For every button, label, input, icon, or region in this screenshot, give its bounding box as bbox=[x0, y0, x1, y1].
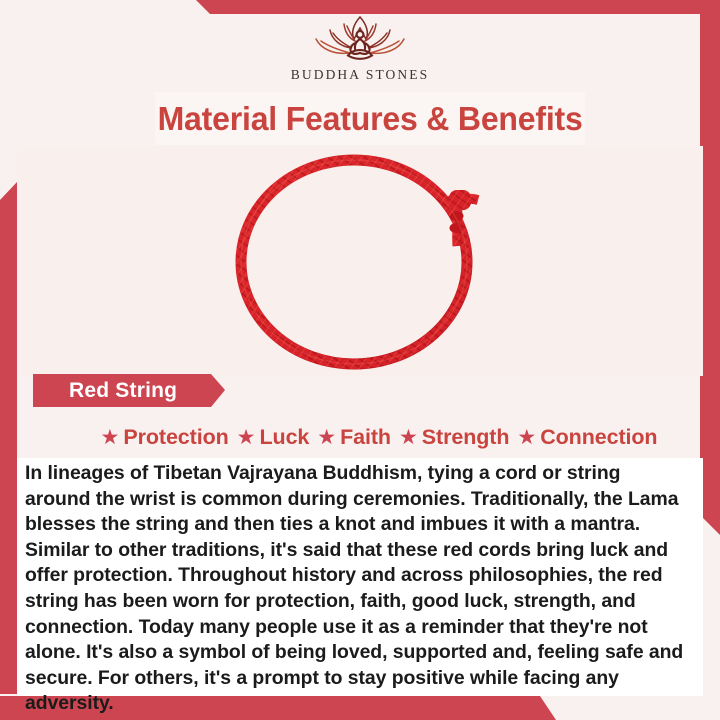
title-banner: Material Features & Benefits bbox=[155, 92, 585, 145]
benefits-list: ★ Protection ★ Luck ★ Faith ★ Strength ★… bbox=[17, 419, 703, 455]
brand-logo: BUDDHA STONES bbox=[0, 14, 720, 92]
benefit-item-strength: ★ Strength bbox=[399, 425, 509, 450]
page-title: Material Features & Benefits bbox=[157, 100, 582, 138]
decorative-top-bar bbox=[0, 0, 720, 14]
star-icon: ★ bbox=[317, 427, 336, 448]
star-icon: ★ bbox=[101, 427, 120, 448]
star-icon: ★ bbox=[517, 427, 536, 448]
star-icon: ★ bbox=[237, 427, 256, 448]
product-image-area bbox=[17, 146, 703, 376]
red-braided-string-bracelet-image bbox=[226, 150, 494, 372]
decorative-left-bar bbox=[0, 182, 17, 694]
lotus-meditation-icon bbox=[304, 14, 416, 66]
benefit-item-protection: ★ Protection bbox=[101, 425, 229, 450]
benefit-item-luck: ★ Luck bbox=[237, 425, 310, 450]
description-text: In lineages of Tibetan Vajrayana Buddhis… bbox=[25, 461, 691, 717]
product-name-ribbon: Red String bbox=[33, 374, 225, 407]
benefit-label: Faith bbox=[340, 425, 391, 450]
benefit-label: Protection bbox=[123, 425, 228, 450]
benefit-item-connection: ★ Connection bbox=[517, 425, 657, 450]
benefit-label: Luck bbox=[260, 425, 310, 450]
product-name-label: Red String bbox=[33, 379, 177, 403]
benefit-label: Connection bbox=[540, 425, 657, 450]
brand-name: BUDDHA STONES bbox=[291, 67, 429, 83]
infographic-canvas: BUDDHA STONES Material Features & Benefi… bbox=[0, 0, 720, 720]
benefit-label: Strength bbox=[422, 425, 510, 450]
star-icon: ★ bbox=[399, 427, 418, 448]
benefit-item-faith: ★ Faith bbox=[317, 425, 391, 450]
description-panel: In lineages of Tibetan Vajrayana Buddhis… bbox=[17, 458, 703, 696]
